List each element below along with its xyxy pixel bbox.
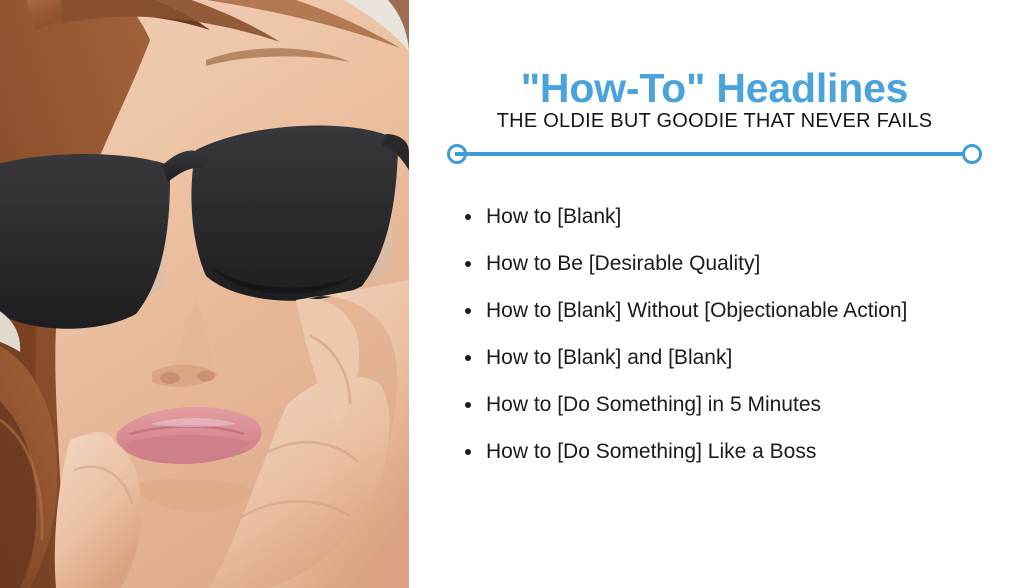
- list-item-label: How to [Blank] and [Blank]: [486, 341, 732, 375]
- bullet-dot-icon: [465, 261, 471, 267]
- divider-line: [455, 152, 974, 156]
- headline-formula-list: How to [Blank] How to Be [Desirable Qual…: [460, 200, 1020, 482]
- bullet-dot-icon: [465, 308, 471, 314]
- bullet-dot-icon: [465, 449, 471, 455]
- list-item-label: How to [Blank] Without [Objectionable Ac…: [486, 294, 907, 328]
- list-item: How to [Do Something] Like a Boss: [460, 435, 1020, 482]
- bullet-dot-icon: [465, 402, 471, 408]
- list-item-label: How to [Blank]: [486, 200, 621, 234]
- bullet-dot-icon: [465, 355, 471, 361]
- slide-canvas: "How-To" Headlines THE OLDIE BUT GOODIE …: [0, 0, 1020, 588]
- list-item-label: How to [Do Something] Like a Boss: [486, 435, 816, 469]
- bullet-dot-icon: [465, 214, 471, 220]
- list-item: How to [Do Something] in 5 Minutes: [460, 388, 1020, 435]
- list-item: How to [Blank] Without [Objectionable Ac…: [460, 294, 1020, 341]
- circle-endpoint-right-icon: [962, 144, 982, 164]
- divider: [447, 144, 982, 164]
- list-item: How to [Blank]: [460, 200, 1020, 247]
- page-subtitle: THE OLDIE BUT GOODIE THAT NEVER FAILS: [409, 108, 1020, 134]
- list-item-label: How to Be [Desirable Quality]: [486, 247, 760, 281]
- portrait-photo: [0, 0, 409, 588]
- content-panel: "How-To" Headlines THE OLDIE BUT GOODIE …: [409, 0, 1020, 588]
- portrait-photo-illustration: [0, 0, 409, 588]
- list-item-label: How to [Do Something] in 5 Minutes: [486, 388, 821, 422]
- list-item: How to [Blank] and [Blank]: [460, 341, 1020, 388]
- page-title: "How-To" Headlines: [409, 65, 1020, 112]
- list-item: How to Be [Desirable Quality]: [460, 247, 1020, 294]
